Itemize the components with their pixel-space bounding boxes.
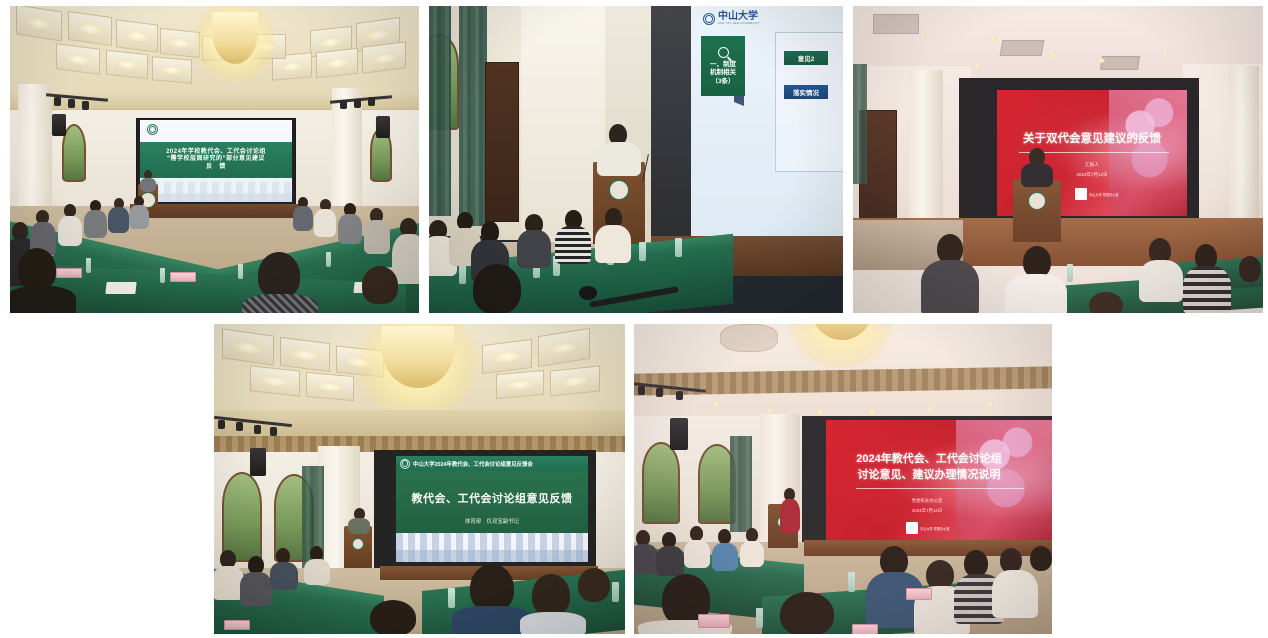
water-bottle	[86, 258, 91, 273]
attendee-head	[1239, 256, 1261, 282]
speaker-box	[250, 448, 266, 476]
slide-category-card: 一、制度 机制相关 （3条）	[701, 36, 745, 96]
led-divider	[856, 488, 1024, 489]
ceiling-panel	[56, 43, 100, 74]
led-title-line-1: 2024年教代会、工代会讨论组	[832, 452, 1026, 466]
ceiling-panel	[68, 11, 112, 46]
ceiling-panel	[316, 48, 358, 78]
foreground-attendee-head	[258, 252, 300, 298]
attendee-head	[1030, 546, 1052, 571]
slide-title-line-2: “需学校层面研究的”部分意见建议	[167, 156, 265, 164]
slide-main-title: 教代会、工代会讨论组意见反馈	[396, 493, 588, 507]
attendee-body	[270, 562, 298, 590]
foreground-attendee-body	[520, 612, 586, 634]
ceiling-downlight	[816, 410, 824, 415]
spotlight	[368, 97, 375, 106]
water-bottle	[238, 264, 243, 279]
ceiling-downlight	[1097, 58, 1105, 63]
photo-5[interactable]: 2024年教代会、工代会讨论组 讨论意见、建议办理情况说明 党委校长办公室 20…	[634, 324, 1052, 634]
ceiling-downlight	[1049, 53, 1057, 58]
foreground-attendee-head	[362, 266, 398, 304]
attendee-body	[634, 544, 658, 574]
slide-title-band: 2024年学校教代会、工代会讨论组 “需学校层面研究的”部分意见建议 反 馈	[140, 142, 292, 178]
attendee-body	[240, 572, 272, 606]
slide-screen[interactable]: 中山大学2024年教代会、工代会讨论组意见反馈会 教代会、工代会讨论组意见反馈 …	[396, 456, 588, 562]
speaker-body	[597, 142, 641, 176]
attendee-body	[304, 559, 330, 585]
ceiling-panel	[250, 365, 300, 396]
ceiling-panel	[152, 56, 192, 83]
photo-5-scene: 2024年教代会、工代会讨论组 讨论意见、建议办理情况说明 党委校长办公室 20…	[634, 324, 1052, 634]
magnifier-icon	[718, 47, 729, 58]
ceiling-downlight	[1161, 50, 1169, 55]
led-title-line-2: 讨论意见、建议办理情况说明	[832, 468, 1026, 482]
photo-collage: 2024年学校教代会、工代会讨论组 “需学校层面研究的”部分意见建议 反 馈	[0, 0, 1268, 638]
photo-1-scene: 2024年学校教代会、工代会讨论组 “需学校层面研究的”部分意见建议 反 馈	[10, 6, 419, 313]
door	[485, 62, 519, 222]
attendee-body	[314, 209, 336, 237]
ceiling-panel	[550, 365, 600, 396]
slide-body: 教代会、工代会讨论组意见反馈 体育部 仇双宝副书记	[396, 471, 588, 533]
place-card	[56, 268, 82, 278]
sun-yat-sen-seal-icon	[147, 124, 158, 135]
foreground-attendee-body	[10, 286, 76, 313]
attendee-body	[338, 214, 362, 244]
attendee-body	[712, 543, 738, 571]
place-card	[906, 588, 932, 600]
document-sheet	[105, 282, 136, 294]
slide-header-text: 中山大学2024年教代会、工代会讨论组意见反馈会	[413, 460, 533, 468]
ceiling-downlight	[973, 62, 981, 67]
attendee-body	[740, 541, 764, 567]
ceiling-downlight	[868, 410, 876, 415]
foreground-attendee-head	[370, 600, 416, 634]
badge-mark-icon	[906, 522, 918, 534]
ceiling-panel	[482, 339, 532, 374]
photo-3-scene: 关于双代会意见建议的反馈 汇报人 2024年7月12日 中山大学 党委办公室	[853, 6, 1263, 313]
ceiling-panel	[362, 41, 406, 73]
slide-chip-opinion: 意见2	[784, 51, 828, 65]
attendee-body	[84, 210, 107, 238]
ceiling-panel	[280, 337, 330, 372]
ceiling-downlight	[766, 408, 774, 413]
attendee-body	[595, 225, 631, 263]
attendee-body	[1005, 274, 1067, 313]
water-bottle	[326, 252, 331, 267]
attendee-body	[58, 216, 82, 246]
foreground-attendee-head	[532, 574, 570, 616]
slide-content-box: 意见2 落实情况	[775, 32, 843, 172]
slide-screen[interactable]: 2024年学校教代会、工代会讨论组 “需学校层面研究的”部分意见建议 反 馈	[140, 120, 292, 202]
led-org-badge: 中山大学 党委办公室	[906, 522, 950, 534]
speaker-box	[376, 116, 390, 138]
speaker-box	[670, 418, 688, 450]
attendee-body	[555, 226, 591, 264]
water-bottle	[612, 582, 619, 602]
slide-header-band: 中山大学2024年教代会、工代会讨论组意见反馈会	[396, 456, 588, 471]
ceiling-panel	[106, 50, 148, 79]
foreground-attendee-head	[473, 264, 521, 313]
ceiling-downlight	[926, 406, 934, 411]
foreground-attendee-head	[470, 564, 514, 612]
attendee-body	[656, 546, 684, 576]
photo-2-scene: 中山大学 SUN YAT-SEN UNIVERSITY 一、制度 机制相关 （3…	[429, 6, 843, 313]
ceiling-panel	[496, 370, 544, 399]
photo-1[interactable]: 2024年学校教代会、工代会讨论组 “需学校层面研究的”部分意见建议 反 馈	[10, 6, 419, 313]
foreground-attendee-body	[242, 294, 318, 313]
attendee-body	[293, 206, 313, 231]
water-bottle	[160, 268, 165, 283]
spotlight	[236, 422, 243, 431]
ceiling-panel	[160, 28, 200, 58]
place-card	[170, 272, 196, 282]
water-bottle	[675, 238, 682, 257]
led-org-badge: 中山大学 党委办公室	[1075, 188, 1119, 200]
water-bottle	[848, 572, 855, 592]
led-screen[interactable]: 2024年教代会、工代会讨论组 讨论意见、建议办理情况说明 党委校长办公室 20…	[826, 420, 1052, 544]
water-bottle	[448, 588, 455, 608]
led-background-tree	[1109, 90, 1187, 216]
spotlight	[82, 101, 89, 110]
ceiling-downlight	[712, 402, 720, 407]
arch-window	[642, 442, 680, 524]
campus-graphic	[396, 533, 588, 562]
presenter-body	[1021, 163, 1053, 187]
spotlight	[270, 427, 277, 436]
attendee-body	[992, 570, 1038, 618]
curtain	[853, 64, 867, 184]
presenter-body	[348, 518, 370, 534]
slide-subtitle: 体育部 仇双宝副书记	[396, 517, 588, 525]
photo-4-scene: 中山大学2024年教代会、工代会讨论组意见反馈会 教代会、工代会讨论组意见反馈 …	[214, 324, 625, 634]
attendee-body	[921, 260, 979, 313]
foreground-attendee-head	[18, 248, 56, 290]
water-bottle	[756, 608, 763, 628]
led-subtitle-org: 党委校长办公室	[826, 498, 1028, 505]
led-title: 关于双代会意见建议的反馈	[1005, 132, 1179, 147]
pillar-left	[909, 70, 943, 240]
foreground-attendee-head	[780, 592, 834, 634]
spotlight	[354, 99, 361, 108]
attendee-head	[718, 529, 731, 544]
ceiling-downlight	[919, 34, 927, 39]
place-card	[698, 614, 730, 628]
microphone-head-icon	[579, 286, 597, 300]
slide-card-line-3: （3条）	[711, 78, 734, 85]
spotlight	[656, 388, 663, 397]
curtain	[429, 6, 451, 216]
podium	[1013, 180, 1061, 242]
spotlight	[340, 100, 347, 109]
photo-4[interactable]: 中山大学2024年教代会、工代会讨论组意见反馈会 教代会、工代会讨论组意见反馈 …	[214, 324, 625, 634]
curtain	[730, 436, 752, 532]
slide-card-line-1: 一、制度	[710, 61, 736, 68]
attendee-body	[684, 540, 710, 568]
water-bottle	[459, 264, 466, 284]
attendee-body	[1183, 266, 1231, 313]
photo-3[interactable]: 关于双代会意见建议的反馈 汇报人 2024年7月12日 中山大学 党委办公室	[853, 6, 1263, 313]
attendee-head	[690, 526, 703, 541]
spotlight	[676, 391, 683, 400]
sun-yat-sen-seal-icon	[400, 459, 410, 469]
ceiling-panel	[116, 19, 158, 52]
presenter-body	[140, 178, 156, 192]
attendee-body	[1139, 260, 1183, 302]
badge-mark-icon	[1075, 188, 1087, 200]
presenter-body	[780, 499, 800, 533]
ceiling-panel	[306, 372, 354, 401]
speaker-box	[52, 114, 66, 136]
water-bottle	[639, 242, 646, 261]
slide-chip-status: 落实情况	[784, 85, 828, 99]
attendee-body	[517, 230, 551, 268]
ceiling-downlight	[989, 36, 997, 41]
led-subtitle-date: 2024年7月12日	[826, 508, 1028, 515]
attendee-head	[964, 550, 988, 577]
campus-graphic	[140, 182, 292, 202]
spotlight	[638, 386, 645, 395]
ceiling-downlight	[986, 402, 994, 407]
slide-title-line-3: 反 馈	[206, 164, 226, 172]
place-card	[224, 620, 250, 630]
spotlight	[68, 99, 75, 108]
attendee-body	[108, 207, 129, 233]
spotlight	[218, 420, 225, 429]
slide-logo-text-cn: 中山大学	[718, 12, 760, 22]
led-badge-text: 中山大学 党委办公室	[1089, 192, 1119, 197]
attendee-head	[1089, 292, 1123, 313]
water-bottle	[1067, 264, 1073, 282]
slide-card-line-2: 机制相关	[710, 69, 736, 76]
slide-screen[interactable]: 中山大学 SUN YAT-SEN UNIVERSITY 一、制度 机制相关 （3…	[691, 6, 843, 238]
slide-logo-text-en: SUN YAT-SEN UNIVERSITY	[718, 22, 760, 26]
sun-yat-sen-seal-icon	[703, 13, 715, 25]
photo-2[interactable]: 中山大学 SUN YAT-SEN UNIVERSITY 一、制度 机制相关 （3…	[429, 6, 843, 313]
attendee-head	[746, 528, 758, 542]
attendee-body	[129, 205, 149, 229]
attendee-head	[578, 568, 610, 602]
spotlight	[54, 97, 61, 106]
led-badge-text: 中山大学 党委办公室	[920, 526, 950, 531]
arch-window	[222, 472, 262, 562]
attendee-body	[364, 220, 390, 254]
spotlight	[254, 425, 261, 434]
place-card	[852, 624, 878, 634]
